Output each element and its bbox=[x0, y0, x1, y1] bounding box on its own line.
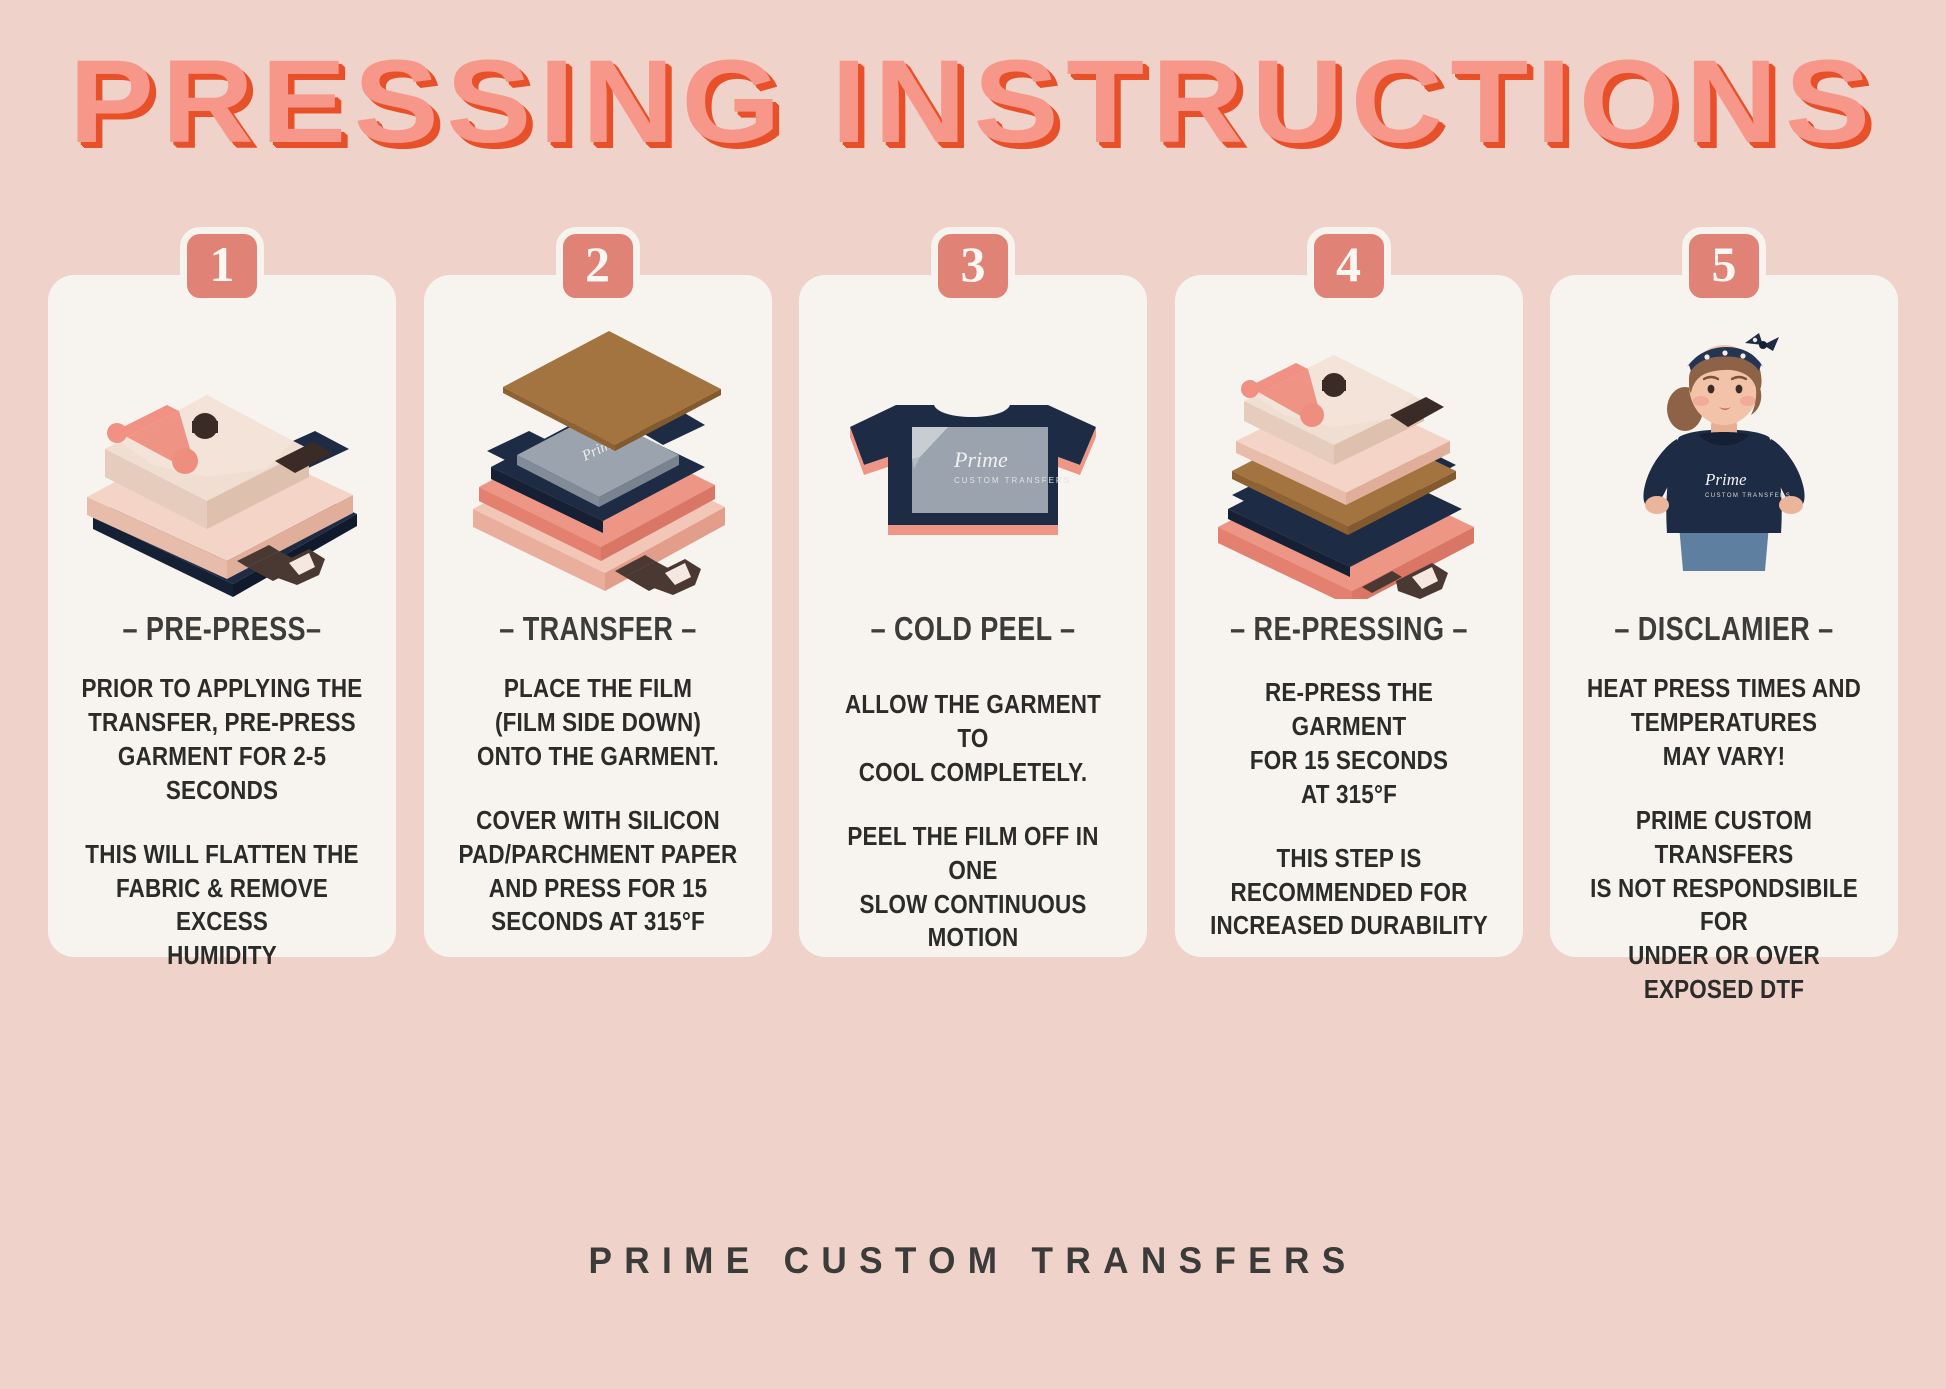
heat-press-repress-icon: Pri bbox=[1175, 309, 1523, 609]
step-body-3: ALLOW THE GARMENT TOCOOL COMPLETELY. PEE… bbox=[813, 689, 1133, 956]
step-title-3: – COLD PEEL – bbox=[830, 610, 1115, 648]
step-body-1: PRIOR TO APPLYING THETRANSFER, PRE-PRESS… bbox=[62, 673, 382, 974]
step-card-1: 1 bbox=[48, 275, 396, 957]
brand-footer: PRIME CUSTOM TRANSFERS bbox=[49, 1240, 1898, 1282]
step-body-2: PLACE THE FILM(FILM SIDE DOWN)ONTO THE G… bbox=[438, 673, 758, 940]
step-card-3: 3 Prime CUSTOM TRANSFERS – COLD PEEL – A… bbox=[799, 275, 1147, 957]
step-number-badge-4: 4 bbox=[1307, 227, 1391, 305]
svg-text:CUSTOM TRANSFERS: CUSTOM TRANSFERS bbox=[1705, 493, 1791, 499]
step-title-4: – RE-PRESSING – bbox=[1206, 610, 1491, 648]
step-number-badge-2: 2 bbox=[556, 227, 640, 305]
svg-text:CUSTOM TRANSFERS: CUSTOM TRANSFERS bbox=[954, 476, 1071, 485]
svg-text:Prime: Prime bbox=[953, 447, 1008, 472]
step-card-4: 4 Pri bbox=[1175, 275, 1523, 957]
svg-text:Prime: Prime bbox=[1704, 470, 1747, 489]
step-paragraph: THIS STEP ISRECOMMENDED FORINCREASED DUR… bbox=[1208, 843, 1490, 945]
steps-row: 1 bbox=[48, 275, 1898, 957]
step-title-2: – TRANSFER – bbox=[455, 610, 740, 648]
step-paragraph: HEAT PRESS TIMES ANDTEMPERATURESMAY VARY… bbox=[1583, 673, 1865, 775]
step-paragraph: PRIME CUSTOM TRANSFERSIS NOT RESPONDSIBI… bbox=[1583, 805, 1865, 1008]
page-title: PRESSING INSTRUCTIONS bbox=[0, 42, 1946, 162]
parchment-over-garment-icon: Prime bbox=[424, 309, 772, 609]
step-number-badge-5: 5 bbox=[1682, 227, 1766, 305]
step-paragraph: PRIOR TO APPLYING THETRANSFER, PRE-PRESS… bbox=[81, 673, 363, 809]
step-card-2: 2 Prime bbox=[424, 275, 772, 957]
heat-press-open-icon bbox=[48, 309, 396, 609]
step-body-5: HEAT PRESS TIMES ANDTEMPERATURESMAY VARY… bbox=[1564, 673, 1884, 1008]
step-number-badge-3: 3 bbox=[931, 227, 1015, 305]
tshirt-peel-film-icon: Prime CUSTOM TRANSFERS bbox=[799, 309, 1147, 609]
step-paragraph: RE-PRESS THE GARMENTFOR 15 SECONDSAT 315… bbox=[1208, 677, 1490, 813]
step-paragraph: PEEL THE FILM OFF IN ONESLOW CONTINUOUSM… bbox=[832, 821, 1114, 957]
step-card-5: 5 Prime CUSTOM TRANSFERS bbox=[1550, 275, 1898, 957]
step-paragraph: ALLOW THE GARMENT TOCOOL COMPLETELY. bbox=[832, 689, 1114, 791]
step-paragraph: COVER WITH SILICONPAD/PARCHMENT PAPERAND… bbox=[457, 805, 739, 941]
step-paragraph: PLACE THE FILM(FILM SIDE DOWN)ONTO THE G… bbox=[457, 673, 739, 775]
step-paragraph: THIS WILL FLATTEN THEFABRIC & REMOVE EXC… bbox=[81, 839, 363, 975]
step-body-4: RE-PRESS THE GARMENTFOR 15 SECONDSAT 315… bbox=[1189, 677, 1509, 944]
step-title-5: – DISCLAMIER – bbox=[1581, 610, 1866, 648]
step-number-badge-1: 1 bbox=[180, 227, 264, 305]
page-title-text: PRESSING INSTRUCTIONS bbox=[69, 42, 1878, 162]
woman-wearing-tshirt-icon: Prime CUSTOM TRANSFERS bbox=[1550, 309, 1898, 609]
step-title-1: – PRE-PRESS– bbox=[79, 610, 364, 648]
